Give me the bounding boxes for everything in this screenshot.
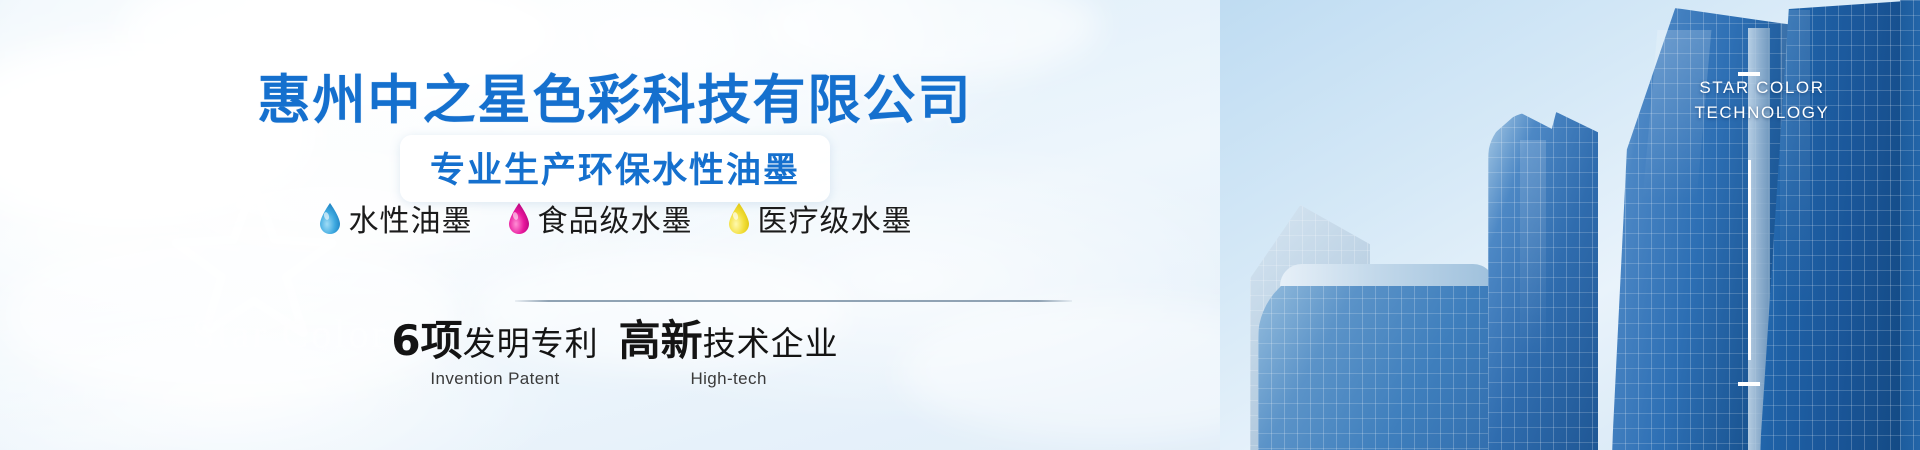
promo-banner: STAR COLOR TECHNOLOGY Star Color 惠州中之星色彩…: [0, 0, 1920, 450]
feature-label: 食品级水墨: [538, 196, 693, 240]
subtitle-pill: 专业生产环保水性油墨: [400, 135, 830, 202]
building-far-right-sliver: [1900, 0, 1920, 450]
badge-strong-text: 高新: [619, 320, 703, 362]
feature-list: 水性油墨 食品级水墨: [0, 196, 1230, 240]
badge-english-text: High-tech: [690, 369, 766, 389]
city-brand-label-line2: TECHNOLOGY: [1662, 101, 1862, 126]
feature-label: 水性油墨: [349, 196, 473, 240]
badge-list: 6项 发明专利 Invention Patent 高新 技术企业 High-te…: [0, 320, 1230, 389]
feature-label: 医疗级水墨: [758, 196, 913, 240]
marker-vertical-line: [1748, 160, 1751, 360]
subtitle-row: 专业生产环保水性油墨: [0, 135, 1230, 202]
building-rounded-cap: [1280, 264, 1495, 286]
badge-invention-patent: 6项 发明专利 Invention Patent: [391, 320, 598, 389]
water-drop-icon: [507, 202, 531, 235]
badge-english-text: Invention Patent: [430, 369, 559, 389]
badge-high-tech: 高新 技术企业 High-tech: [619, 320, 839, 389]
skyscraper-photo: STAR COLOR TECHNOLOGY: [1220, 0, 1920, 450]
company-title: 惠州中之星色彩科技有限公司: [0, 58, 1230, 134]
water-drop-icon: [727, 202, 751, 235]
section-divider: [515, 300, 1072, 302]
glass-highlight: [1780, 10, 1810, 310]
badge-rest-text: 技术企业: [703, 327, 839, 360]
badge-rest-text: 发明专利: [463, 327, 599, 360]
building-rounded-front: [1258, 268, 1518, 450]
badge-chinese-text: 高新 技术企业: [619, 320, 839, 362]
water-drop-icon: [318, 202, 342, 235]
city-brand-label-line1: STAR COLOR: [1662, 76, 1862, 101]
feature-item-food-grade-ink: 食品级水墨: [507, 196, 693, 240]
badge-strong-text: 6项: [391, 320, 462, 362]
marker-tick-bottom: [1738, 382, 1760, 386]
glass-highlight: [1520, 140, 1546, 360]
city-brand-label: STAR COLOR TECHNOLOGY: [1662, 76, 1862, 125]
banner-content: 惠州中之星色彩科技有限公司 专业生产环保水性油墨 水性油墨: [0, 0, 1230, 450]
badge-chinese-text: 6项 发明专利: [391, 320, 598, 362]
feature-item-water-ink: 水性油墨: [318, 196, 473, 240]
feature-item-medical-grade-ink: 医疗级水墨: [727, 196, 913, 240]
